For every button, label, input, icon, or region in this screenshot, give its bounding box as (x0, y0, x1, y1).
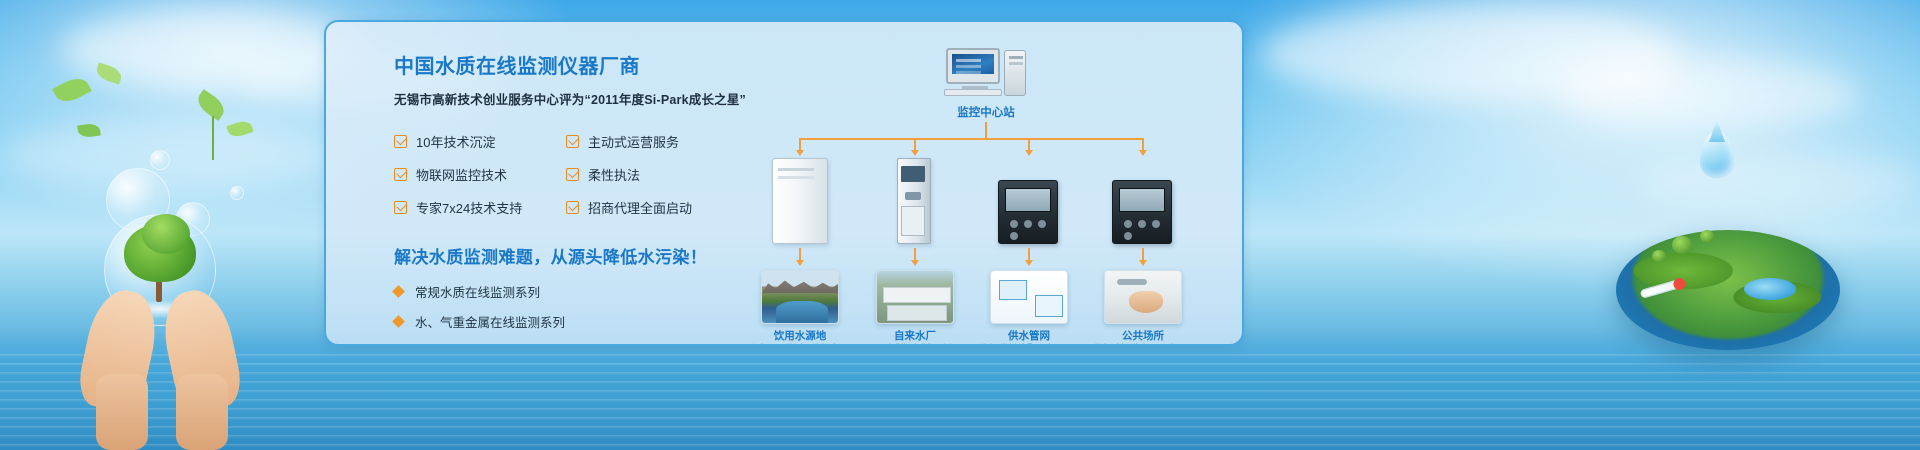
list-item: 常规水质在线监测系列 (394, 282, 764, 301)
arrow-down-icon (1139, 150, 1147, 156)
device-analyzer-rack (897, 158, 931, 244)
sprout-stem (212, 116, 214, 160)
pc-tower-icon (1004, 50, 1026, 96)
node-title: 自来水厂 (860, 328, 970, 343)
checkbox-checked-icon (394, 135, 407, 148)
arrow-down-icon (1139, 260, 1147, 266)
tree-crown-highlight (142, 214, 190, 254)
list-item-label: CEMS、TVOCs、PM2.5系列 (415, 342, 578, 346)
cloud-decoration (0, 120, 340, 190)
checkbox-checked-icon (566, 135, 579, 148)
leaf-icon (226, 118, 253, 139)
planet-tree (1700, 230, 1714, 243)
rack-door (901, 206, 925, 236)
monitor-screen (952, 54, 994, 74)
node-title: 公共场所 (1088, 328, 1198, 343)
keyboard-icon (944, 89, 1002, 96)
device-water-cabinet (772, 158, 828, 244)
bubble-decoration (150, 150, 170, 170)
node-title: 饮用水源地 (745, 328, 855, 343)
diamond-bullet-icon (392, 315, 405, 328)
monitoring-center-computer-icon (946, 48, 1026, 96)
feature-item: 主动式运营服务 (566, 132, 764, 151)
feature-label: 物联网监控技术 (416, 165, 507, 184)
controller-icon (1112, 180, 1172, 244)
cloud-decoration (1640, 150, 1920, 214)
controller-display (1119, 188, 1165, 212)
connector-line (985, 122, 987, 138)
list-item-label: 常规水质在线监测系列 (415, 282, 540, 301)
arrow-down-icon (911, 260, 919, 266)
feature-item: 招商代理全面启动 (566, 198, 764, 217)
photo-water-pipeline (990, 270, 1068, 324)
device-controller-b (1112, 180, 1172, 244)
controller-buttons (1121, 218, 1163, 234)
photo-public-place (1104, 270, 1182, 324)
water-drop-icon (1700, 132, 1734, 178)
leaf-icon (77, 123, 101, 139)
cloud-decoration (1560, 60, 1860, 130)
list-item-label: 水、气重金属在线监测系列 (415, 312, 565, 331)
controller-buttons (1007, 218, 1049, 234)
feature-item: 专家7x24技术支持 (394, 198, 566, 217)
arrow-down-icon (1025, 260, 1033, 266)
feature-item: 10年技术沉淀 (394, 132, 566, 151)
checkbox-checked-icon (566, 201, 579, 214)
leaf-icon (52, 73, 91, 107)
diamond-bullet-icon (392, 285, 405, 298)
checkbox-checked-icon (394, 168, 407, 181)
page-subtitle: 无锡市高新技术创业服务中心评为“2011年度Si-Park成长之星” (394, 89, 764, 108)
left-text-column: 中国水质在线监测仪器厂商 无锡市高新技术创业服务中心评为“2011年度Si-Pa… (394, 50, 764, 346)
device-controller-a (998, 180, 1058, 244)
controller-display (1005, 188, 1051, 212)
bubble-decoration (230, 186, 244, 200)
feature-label: 主动式运营服务 (588, 132, 679, 151)
node-description: 浊度、余氯、色度、PH、电导等。 (1095, 342, 1191, 346)
controller-icon (998, 180, 1058, 244)
page-title: 中国水质在线监测仪器厂商 (394, 50, 764, 79)
section-title: 解决水质监测难题，从源头降低水污染！ (394, 243, 764, 268)
cloud-decoration (1260, 6, 1680, 102)
arrow-down-icon (796, 260, 804, 266)
connector-line (799, 138, 1143, 140)
monitoring-diagram: 监控中心站 (756, 36, 1226, 336)
node-description: 温度、PH、溶解氧、浊度、氨氮、COD、叶绿素、蓝绿藻、生物毒性等。 (752, 342, 848, 346)
wrist-illustration (96, 374, 148, 450)
feature-list: 10年技术沉淀 主动式运营服务 物联网监控技术 柔性执法 专家7x24技术支持 … (394, 132, 764, 217)
list-item: 水、气重金属在线监测系列 (394, 312, 764, 331)
feature-label: 招商代理全面启动 (588, 198, 692, 217)
checkbox-checked-icon (394, 201, 407, 214)
monitoring-center-label: 监控中心站 (906, 104, 1066, 120)
monitor-icon (946, 48, 1000, 84)
photo-water-plant (876, 270, 954, 324)
checkbox-checked-icon (566, 168, 579, 181)
list-item: CEMS、TVOCs、PM2.5系列 (394, 342, 764, 346)
node-title: 供水管网 (974, 328, 1084, 343)
wrist-illustration (176, 374, 228, 450)
planet-lake (1744, 278, 1796, 300)
leaf-icon (94, 62, 123, 84)
arrow-down-icon (796, 150, 804, 156)
feature-label: 柔性执法 (588, 165, 640, 184)
arrow-down-icon (1025, 150, 1033, 156)
content-panel: 中国水质在线监测仪器厂商 无锡市高新技术创业服务中心评为“2011年度Si-Pa… (324, 20, 1244, 346)
planet-tree (1652, 250, 1666, 262)
rack-icon (897, 158, 931, 244)
diamond-bullet-icon (392, 345, 405, 346)
leaf-icon (194, 89, 229, 121)
feature-item: 柔性执法 (566, 165, 764, 184)
water-shimmer (0, 354, 1920, 450)
cabinet-icon (772, 158, 828, 244)
arrow-down-icon (911, 150, 919, 156)
feature-label: 专家7x24技术支持 (416, 198, 522, 217)
node-description: COD、氯化物、氟化物、硝酸盐、氨氮、硝酸盐、铁、锰、生物毒性等。 (867, 342, 963, 346)
feature-item: 物联网监控技术 (394, 165, 566, 184)
feature-label: 10年技术沉淀 (416, 132, 495, 151)
planet-tree (1672, 236, 1692, 254)
rack-knob (905, 192, 921, 200)
photo-drinking-water-source (761, 270, 839, 324)
product-series-list: 常规水质在线监测系列 水、气重金属在线监测系列 CEMS、TVOCs、PM2.5… (394, 282, 764, 346)
node-description: 浊度、消毒剂余量、温度、PH、氨氮、亚硝酸盐、电导、压力、流量等。 (981, 342, 1077, 346)
rack-display (901, 166, 925, 182)
